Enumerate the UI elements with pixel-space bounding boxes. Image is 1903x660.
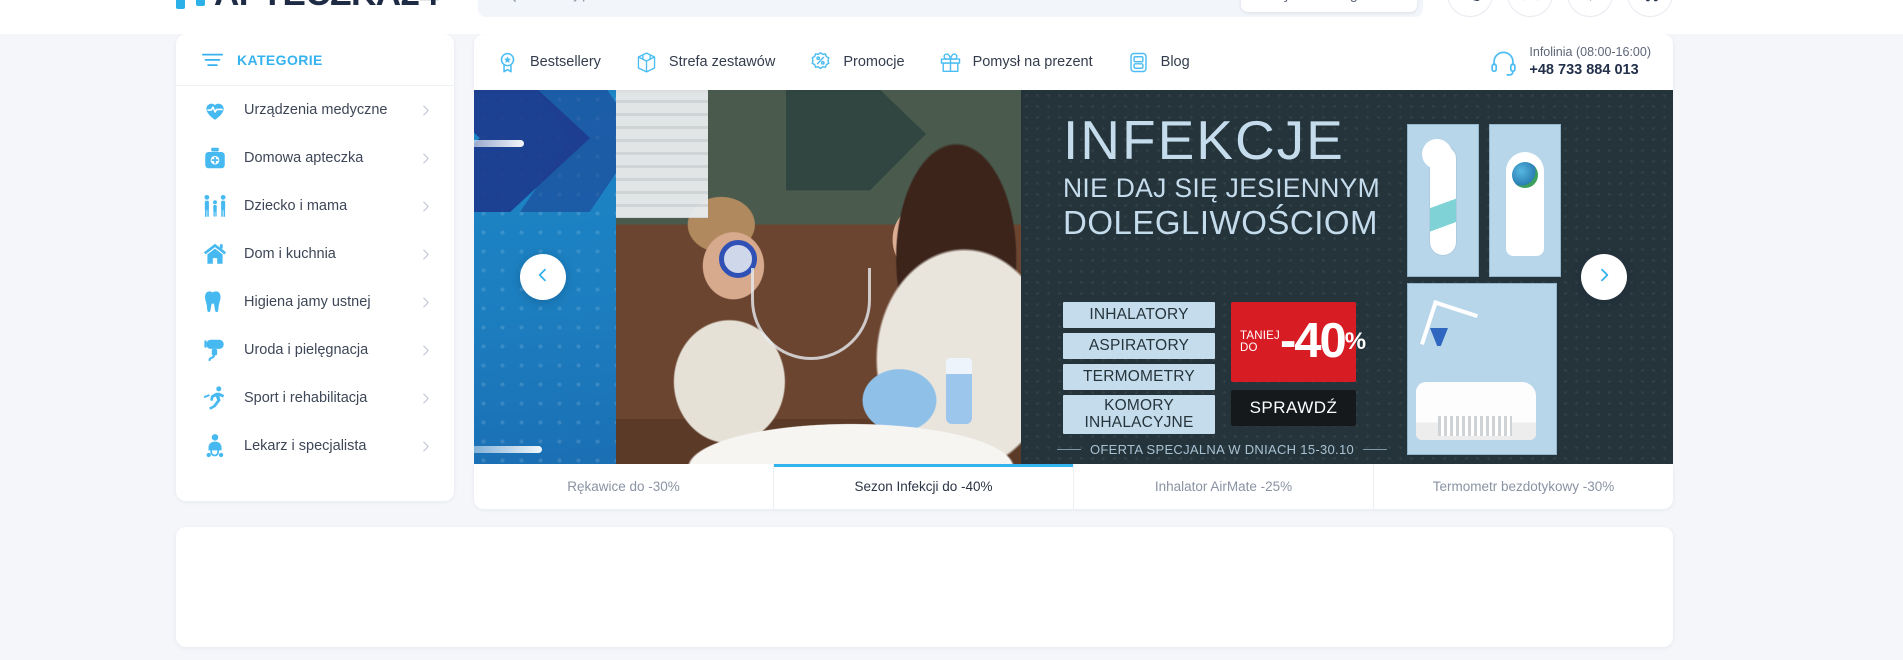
nav-item-pomysl-na-prezent[interactable]: Pomysł na prezent: [939, 51, 1093, 74]
carousel-prev-button[interactable]: [520, 254, 566, 300]
chevron-right-icon: [419, 344, 432, 357]
photo-medicine-bottle: [946, 358, 972, 424]
carousel-tab-inhalator-airmate[interactable]: Inhalator AirMate -25%: [1074, 464, 1374, 509]
hairdryer-icon: [202, 337, 228, 363]
photo-shelf: [616, 90, 708, 218]
nav-item-blog[interactable]: Blog: [1127, 51, 1190, 74]
phone-icon: [1460, 0, 1481, 7]
sidebar-item-lekarz-i-specjalista[interactable]: Lekarz i specjalista: [176, 422, 454, 470]
chevron-down-icon: [1391, 0, 1404, 1]
promo-list-item: ASPIRATORY: [1063, 333, 1215, 359]
runner-icon: [202, 385, 228, 411]
doctor-icon: [202, 433, 228, 459]
promo-footer-text: OFERTA SPECJALNA W DNIACH 15-30.10: [1090, 442, 1354, 457]
gift-icon: [939, 51, 962, 74]
phone-button[interactable]: [1447, 0, 1493, 17]
category-select-value: Wszystkie kategorie: [1257, 0, 1381, 2]
hero-banner: INFEKCJE NIE DAJ SIĘ JESIENNYM DOLEGLIWO…: [474, 90, 1673, 464]
chevron-right-icon: [1596, 267, 1612, 288]
sidebar-item-domowa-apteczka[interactable]: Domowa apteczka: [176, 134, 454, 182]
badge-star-icon: [496, 51, 519, 74]
user-icon: [1520, 0, 1541, 7]
category-sidebar: KATEGORIE Urządzenia medyczne Domowa apt…: [176, 34, 454, 501]
search-icon: [500, 0, 517, 3]
sidebar-item-label: Domowa apteczka: [244, 150, 403, 166]
sidebar-item-dziecko-i-mama[interactable]: Dziecko i mama: [176, 182, 454, 230]
promo-product-thumbnails: [1407, 124, 1667, 455]
promo-text: INFEKCJE NIE DAJ SIĘ JESIENNYM DOLEGLIWO…: [1063, 114, 1379, 240]
hotline-phone: +48 733 884 013: [1529, 61, 1651, 81]
promo-list-item: TERMOMETRY: [1063, 364, 1215, 390]
chevron-right-icon: [419, 296, 432, 309]
nav-item-bestsellery[interactable]: Bestsellery: [496, 51, 601, 74]
carousel-tabs: Rękawice do -30% Sezon Infekcji do -40% …: [474, 464, 1673, 509]
sidebar-item-dom-i-kuchnia[interactable]: Dom i kuchnia: [176, 230, 454, 278]
chevron-left-icon: [535, 267, 551, 288]
hotline[interactable]: Infolinia (08:00-16:00) +48 733 884 013: [1490, 44, 1651, 80]
first-aid-kit-icon: [202, 145, 228, 171]
promo-headline: INFEKCJE: [1063, 114, 1379, 166]
promo-cta-button[interactable]: SPRAWDŹ: [1231, 390, 1356, 426]
heart-pulse-icon: [202, 97, 228, 123]
sidebar-item-higiena-jamy-ustnej[interactable]: Higiena jamy ustnej: [176, 278, 454, 326]
promo-subline-1: NIE DAJ SIĘ JESIENNYM: [1063, 174, 1379, 204]
sidebar-header[interactable]: KATEGORIE: [176, 34, 454, 86]
chevron-right-icon: [419, 104, 432, 117]
box-bundle-icon: [635, 51, 658, 74]
chevron-right-icon: [419, 152, 432, 165]
nav-item-strefa-zestawow[interactable]: Strefa zestawów: [635, 51, 775, 74]
sidebar-title: KATEGORIE: [237, 52, 323, 68]
promo-discount-unit: %: [1345, 330, 1366, 354]
tooth-icon: [202, 289, 228, 315]
headset-icon: [1490, 49, 1517, 76]
logo-text: APTECZKA24: [214, 0, 438, 14]
header-actions: [1447, 0, 1673, 17]
heart-icon: [1580, 0, 1601, 7]
divider-line: [1057, 449, 1081, 450]
account-button[interactable]: [1507, 0, 1553, 17]
search-bar[interactable]: Wszystkie kategorie: [478, 0, 1423, 17]
percent-badge-icon: [809, 51, 832, 74]
sidebar-item-label: Uroda i pielęgnacja: [244, 342, 403, 358]
nav-item-label: Blog: [1161, 54, 1190, 70]
family-icon: [202, 193, 228, 219]
house-icon: [202, 241, 228, 267]
page-content: KATEGORIE Urządzenia medyczne Domowa apt…: [176, 34, 1673, 660]
article-icon: [1127, 51, 1150, 74]
site-logo[interactable]: APTECZKA24: [176, 0, 468, 14]
promo-discount-value: -40: [1280, 322, 1345, 361]
hotline-hours: Infolinia (08:00-16:00): [1529, 44, 1651, 61]
sidebar-item-urzadzenia-medyczne[interactable]: Urządzenia medyczne: [176, 86, 454, 134]
burger-menu-icon: [202, 52, 223, 68]
cart-icon: [1640, 0, 1661, 7]
chevron-right-icon: [419, 248, 432, 261]
nav-item-promocje[interactable]: Promocje: [809, 51, 904, 74]
promo-footer: OFERTA SPECJALNA W DNIACH 15-30.10: [1057, 442, 1387, 457]
banner-photo-mother-child-nebulizer: [616, 90, 1021, 464]
product-thumb-aspirator: [1407, 124, 1479, 277]
streak-decor: [474, 140, 524, 147]
promo-discount-label: TANIEJ DO: [1240, 330, 1280, 354]
carousel-next-button[interactable]: [1581, 254, 1627, 300]
promo-discount-badge: TANIEJ DO -40 %: [1231, 302, 1356, 382]
divider-line: [1363, 449, 1387, 450]
chevron-right-icon: [419, 392, 432, 405]
sidebar-item-label: Sport i rehabilitacja: [244, 390, 403, 406]
sidebar-item-label: Urządzenia medyczne: [244, 102, 403, 118]
carousel-tab-termometr-bezdotykowy[interactable]: Termometr bezdotykowy -30%: [1374, 464, 1673, 509]
carousel-tab-rekawice[interactable]: Rękawice do -30%: [474, 464, 774, 509]
plus-cross-logo-icon: [176, 0, 213, 9]
site-header: APTECZKA24 Wszystkie kategorie: [0, 0, 1903, 34]
photo-wall-shape: [786, 90, 926, 200]
nav-item-label: Strefa zestawów: [669, 54, 775, 70]
sidebar-item-label: Dziecko i mama: [244, 198, 403, 214]
chevron-right-icon: [419, 440, 432, 453]
cart-button[interactable]: [1627, 0, 1673, 17]
main-column: Bestsellery Strefa zestawów Promocje: [474, 34, 1673, 509]
carousel-tab-sezon-infekcji[interactable]: Sezon Infekcji do -40%: [774, 464, 1074, 509]
category-select[interactable]: Wszystkie kategorie: [1241, 0, 1417, 12]
promo-product-list: INHALATORY ASPIRATORY TERMOMETRY KOMORY …: [1063, 302, 1215, 439]
sidebar-item-sport-i-rehabilitacja[interactable]: Sport i rehabilitacja: [176, 374, 454, 422]
sidebar-item-label: Higiena jamy ustnej: [244, 294, 403, 310]
promo-list-item: KOMORY INHALACYJNE: [1063, 395, 1215, 434]
wishlist-button[interactable]: [1567, 0, 1613, 17]
sidebar-item-uroda-i-pielegnacja[interactable]: Uroda i pielęgnacja: [176, 326, 454, 374]
nav-item-label: Bestsellery: [530, 54, 601, 70]
promo-subline-2: DOLEGLIWOŚCIOM: [1063, 206, 1379, 240]
banner-promo-panel: INFEKCJE NIE DAJ SIĘ JESIENNYM DOLEGLIWO…: [1021, 90, 1673, 464]
next-section-card: [176, 527, 1673, 647]
streak-decor: [474, 446, 542, 453]
nav-item-label: Promocje: [843, 54, 904, 70]
top-navigation: Bestsellery Strefa zestawów Promocje: [474, 34, 1673, 90]
sidebar-item-label: Lekarz i specjalista: [244, 438, 403, 454]
photo-inhaler-tube: [751, 268, 871, 360]
product-thumb-thermometer: [1489, 124, 1561, 277]
chevron-right-icon: [419, 200, 432, 213]
product-thumb-nebulizer: [1407, 283, 1557, 455]
sidebar-item-label: Dom i kuchnia: [244, 246, 403, 262]
promo-list-item: INHALATORY: [1063, 302, 1215, 328]
nav-item-label: Pomysł na prezent: [973, 54, 1093, 70]
